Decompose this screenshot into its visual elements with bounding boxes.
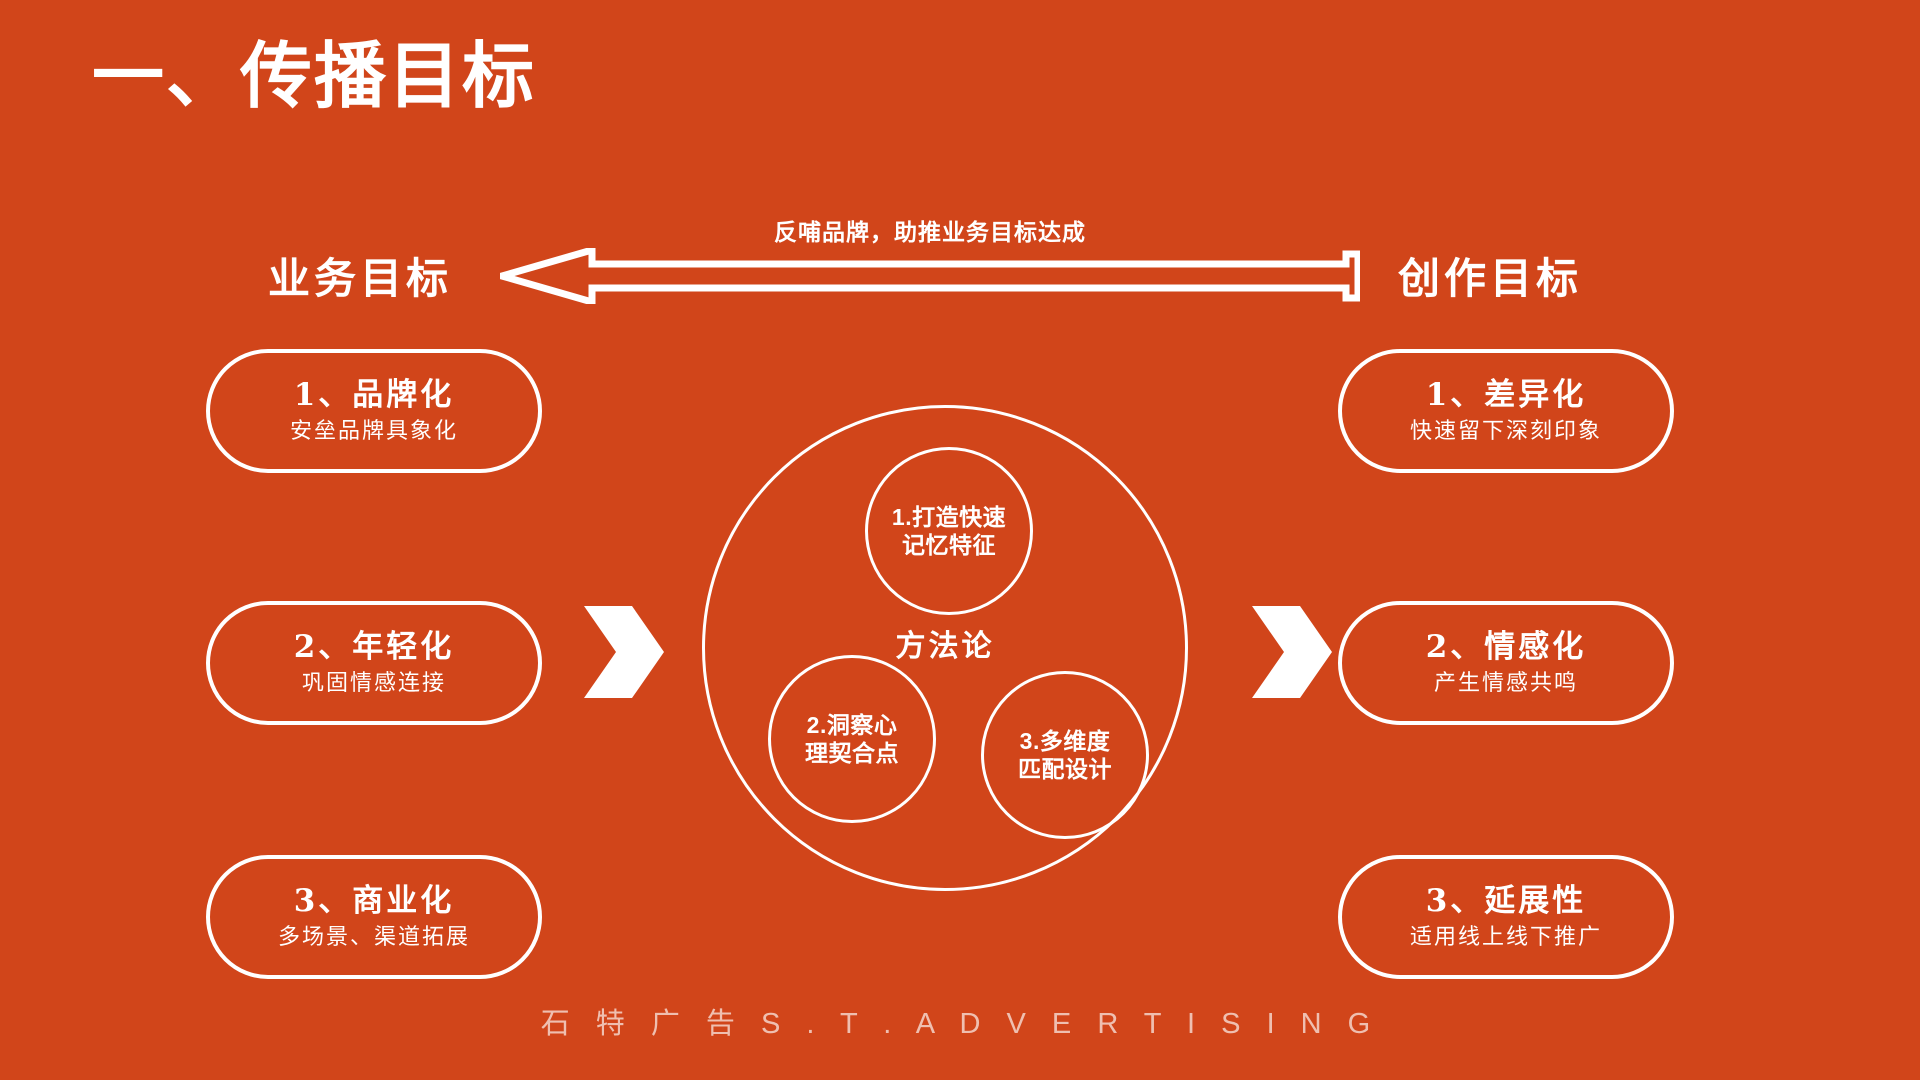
methodology-node-2[interactable]: 2.洞察心 理契合点 [768,655,936,823]
methodology-node-2-label: 2.洞察心 理契合点 [782,711,922,767]
page-title: 一、传播目标 [92,38,536,117]
creative-goal-pill-3[interactable]: 3、延展性 适用线上线下推广 [1338,855,1674,979]
creative-goal-pill-1-subtitle: 快速留下深刻印象 [1410,419,1602,444]
business-goal-pill-2-subtitle: 巩固情感连接 [302,671,446,696]
business-goals-column-header: 业务目标 [268,245,452,306]
methodology-node-2-line2: 理契合点 [805,740,899,766]
business-goal-pill-3-title: 3、商业化 [294,884,455,920]
methodology-label: 方法论 [702,621,1188,665]
methodology-node-2-line1: 2.洞察心 [807,712,898,738]
creative-goal-pill-2-title: 2、情感化 [1426,630,1587,666]
methodology-node-3-label: 3.多维度 匹配设计 [995,727,1135,783]
chevron-right-icon [580,600,666,704]
business-goal-pill-1-subtitle: 安垒品牌具象化 [290,419,458,444]
methodology-diagram: 方法论 1.打造快速 记忆特征 2.洞察心 理契合点 3.多维度 匹配设计 [702,405,1188,891]
methodology-node-3-line1: 3.多维度 [1020,728,1111,754]
creative-goal-pill-3-title: 3、延展性 [1426,884,1587,920]
methodology-node-3[interactable]: 3.多维度 匹配设计 [981,671,1149,839]
business-goal-pill-3[interactable]: 3、商业化 多场景、渠道拓展 [206,855,542,979]
creative-goal-pill-3-subtitle: 适用线上线下推广 [1410,925,1602,950]
creative-goal-pill-1-title: 1、差异化 [1426,378,1587,414]
creative-goals-column-header: 创作目标 [1398,245,1582,306]
creative-goal-pill-1[interactable]: 1、差异化 快速留下深刻印象 [1338,349,1674,473]
business-goal-pill-3-subtitle: 多场景、渠道拓展 [278,925,470,950]
methodology-node-1-line1: 1.打造快速 [892,504,1006,530]
methodology-node-1[interactable]: 1.打造快速 记忆特征 [865,447,1033,615]
creative-goal-pill-2[interactable]: 2、情感化 产生情感共鸣 [1338,601,1674,725]
long-left-arrow-outline-icon [500,248,1360,304]
methodology-node-1-line2: 记忆特征 [902,532,996,558]
feedback-arrow-label: 反哺品牌，助推业务目标达成 [690,213,1170,247]
methodology-node-1-label: 1.打造快速 记忆特征 [879,503,1019,559]
creative-goal-pill-2-subtitle: 产生情感共鸣 [1434,671,1578,696]
footer-brand-watermark: 石 特 广 告 S . T . A D V E R T I S I N G [0,1000,1920,1042]
business-goal-pill-1[interactable]: 1、品牌化 安垒品牌具象化 [206,349,542,473]
methodology-node-3-line2: 匹配设计 [1018,756,1112,782]
business-goal-pill-2-title: 2、年轻化 [294,630,455,666]
business-goal-pill-1-title: 1、品牌化 [294,378,455,414]
chevron-right-icon [1248,600,1334,704]
business-goal-pill-2[interactable]: 2、年轻化 巩固情感连接 [206,601,542,725]
